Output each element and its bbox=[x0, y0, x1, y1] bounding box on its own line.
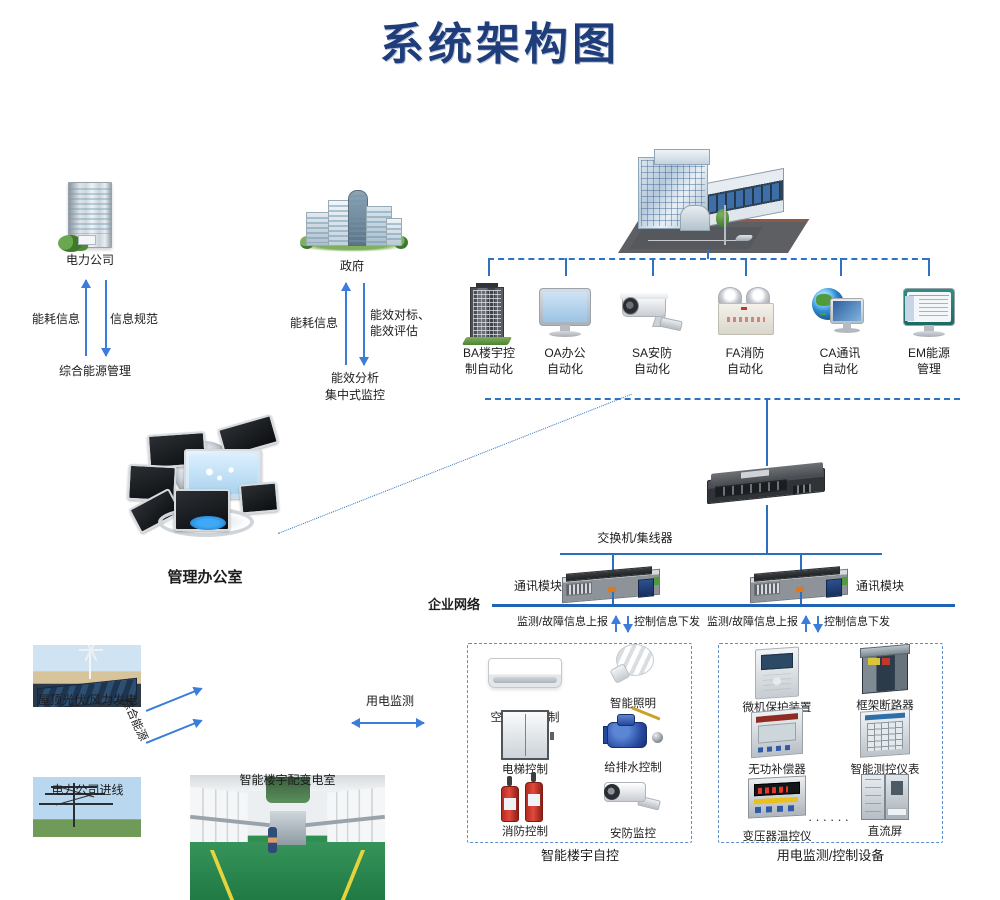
device-label: 直流屏 bbox=[830, 825, 940, 839]
efficiency-analysis-label: 能效分析 bbox=[295, 370, 415, 386]
device-label: 给排水控制 bbox=[578, 761, 688, 775]
air-conditioner-icon bbox=[488, 658, 562, 688]
switch-hub-label: 交换机/集线器 bbox=[545, 530, 725, 546]
government-down-arrow bbox=[363, 283, 365, 365]
power-company-incoming-label: 电力公司进线 bbox=[15, 782, 160, 798]
list-item[interactable]: 消防控制 bbox=[470, 772, 580, 839]
subsystem-sa-line2: 自动化 bbox=[606, 361, 698, 377]
list-item[interactable]: 无功补偿器 bbox=[722, 710, 832, 777]
subsystem-drop-1 bbox=[488, 258, 490, 276]
highrise-building-icon bbox=[464, 283, 510, 345]
list-item[interactable]: 智能照明 bbox=[578, 644, 688, 711]
device-label: 变压器温控仪 bbox=[722, 830, 832, 844]
network-switch-icon bbox=[707, 466, 827, 510]
flow-up-label-2: 监测/故障信息上报 bbox=[668, 615, 798, 630]
subsystem-lower-bus-line bbox=[485, 398, 960, 400]
cctv-camera-icon bbox=[602, 774, 664, 820]
flow-down-arrow-2 bbox=[817, 616, 819, 632]
flow-up-label-1: 监测/故障信息上报 bbox=[478, 615, 608, 630]
list-item[interactable]: 变压器温控仪 bbox=[722, 772, 832, 844]
subsystem-drop-2 bbox=[565, 258, 567, 276]
switch-downlink-line bbox=[766, 505, 768, 553]
office-tower-icon bbox=[68, 182, 112, 248]
power-company-label: 电力公司 bbox=[25, 252, 155, 268]
list-item[interactable]: 智能测控仪表 bbox=[830, 710, 940, 777]
list-item[interactable]: 直流屏 bbox=[830, 772, 940, 839]
building-automation-group-caption: 智能楼宇自控 bbox=[470, 848, 690, 864]
substation-room-label: 智能楼宇配变电室 bbox=[190, 772, 385, 788]
page-title: 系统架构图 bbox=[0, 8, 1000, 72]
subsystem-ca-line1: CA通讯 bbox=[794, 345, 886, 361]
emergency-light-icon bbox=[714, 287, 778, 337]
flow-up-arrow-1 bbox=[615, 616, 617, 632]
subsystem-em-line2: 管理 bbox=[883, 361, 975, 377]
integrated-energy-management-label: 综合能源管理 bbox=[25, 363, 165, 379]
enterprise-network-bar bbox=[492, 604, 955, 607]
list-item[interactable]: 框架断路器 bbox=[830, 646, 940, 713]
subsystem-em-line1: EM能源 bbox=[883, 345, 975, 361]
power-company-up-arrow bbox=[85, 280, 87, 356]
comm-module-left-label: 通讯模块 bbox=[482, 578, 562, 594]
device-label: 安防监控 bbox=[578, 827, 688, 841]
air-circuit-breaker-icon bbox=[856, 646, 914, 696]
device-label: 消防控制 bbox=[470, 825, 580, 839]
subsystem-sa-line1: SA安防 bbox=[606, 345, 698, 361]
comm-module-bus-line bbox=[560, 553, 882, 555]
management-office-label: 管理办公室 bbox=[110, 570, 300, 586]
protection-relay-icon bbox=[755, 646, 799, 699]
power-monitoring-arrow-label: 用电监测 bbox=[345, 693, 435, 709]
switch-uplink-line bbox=[766, 398, 768, 466]
power-monitoring-group-caption: 用电监测/控制设备 bbox=[718, 848, 943, 864]
security-camera-icon bbox=[620, 289, 684, 335]
cfl-bulb-icon bbox=[610, 644, 656, 692]
enterprise-network-label: 企业网络 bbox=[428, 597, 488, 613]
elevator-icon bbox=[501, 710, 549, 760]
energy-arrow-bottom bbox=[146, 720, 202, 744]
group-ellipsis: ······ bbox=[790, 812, 870, 827]
power-company-down-arrow bbox=[105, 280, 107, 356]
flow-down-label-2: 控制信息下发 bbox=[824, 615, 934, 630]
subsystem-oa-line1: OA办公 bbox=[519, 345, 611, 361]
fire-extinguisher-icon bbox=[497, 772, 553, 822]
subsystem-drop-6 bbox=[928, 258, 930, 276]
desktop-monitor-icon bbox=[537, 288, 593, 340]
subsystem-ca-line2: 自动化 bbox=[794, 361, 886, 377]
subsystem-oa-line2: 自动化 bbox=[519, 361, 611, 377]
comm-right-to-network-line bbox=[800, 592, 802, 604]
subsystem-fa-line1: FA消防 bbox=[699, 345, 791, 361]
reactive-power-compensator-icon bbox=[751, 708, 803, 759]
globe-network-icon bbox=[812, 288, 868, 338]
subsystem-drop-5 bbox=[840, 258, 842, 276]
multi-screen-globe-icon bbox=[122, 415, 292, 545]
subsystem-drop-3 bbox=[652, 258, 654, 276]
power-company-up-flow-label: 能耗信息 bbox=[18, 311, 80, 327]
subsystem-drop-4 bbox=[745, 258, 747, 276]
water-valve-icon bbox=[603, 708, 663, 756]
government-up-arrow bbox=[345, 283, 347, 365]
flow-down-arrow-1 bbox=[627, 616, 629, 632]
government-label: 政府 bbox=[292, 258, 412, 274]
centralized-monitoring-label: 集中式监控 bbox=[295, 387, 415, 403]
smart-power-meter-icon bbox=[860, 708, 910, 757]
modern-building-icon bbox=[618, 148, 788, 253]
subsystem-bus-line bbox=[488, 258, 928, 260]
list-item[interactable]: 微机保护装置 bbox=[722, 648, 832, 715]
comm-left-to-network-line bbox=[612, 592, 614, 604]
flow-up-arrow-2 bbox=[805, 616, 807, 632]
government-down-flow-label: 能效对标、 能效评估 bbox=[370, 307, 460, 339]
rooftop-pv-wind-label: 屋顶光伏/风力发电 bbox=[15, 692, 160, 708]
power-company-down-flow-label: 信息规范 bbox=[110, 311, 190, 327]
list-item[interactable]: 给排水控制 bbox=[578, 708, 688, 775]
list-item[interactable]: 安防监控 bbox=[578, 774, 688, 841]
list-item[interactable]: 电梯控制 bbox=[470, 710, 580, 777]
management-office-link-line bbox=[278, 394, 632, 534]
comm-module-right-label: 通讯模块 bbox=[856, 578, 946, 594]
government-up-flow-label: 能耗信息 bbox=[272, 315, 338, 331]
substation-room-photo bbox=[190, 775, 385, 900]
power-monitoring-arrow bbox=[352, 722, 424, 724]
subsystem-fa-line2: 自动化 bbox=[699, 361, 791, 377]
government-building-icon bbox=[298, 190, 406, 252]
energy-dashboard-icon bbox=[901, 288, 957, 340]
